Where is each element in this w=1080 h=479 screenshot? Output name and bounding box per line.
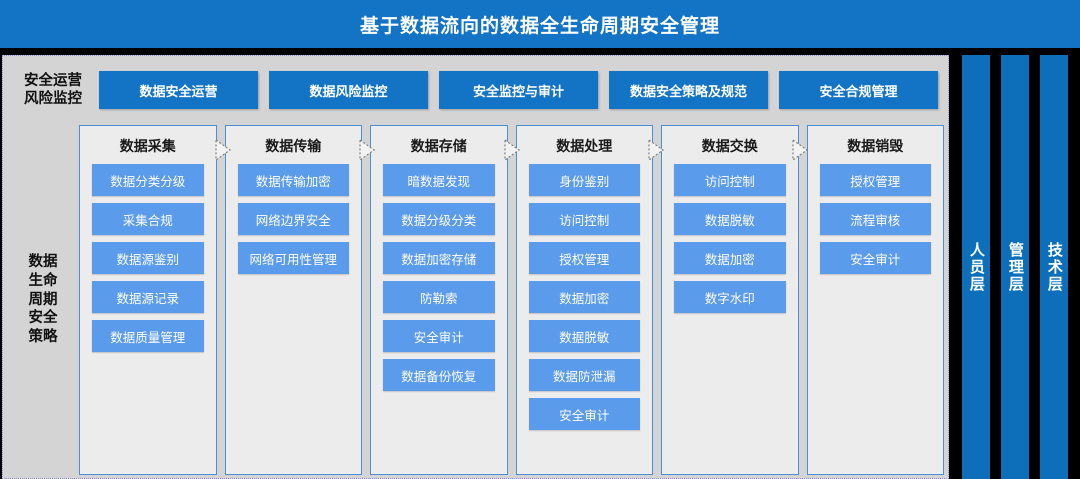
security-ops-button[interactable]: 安全监控与审计: [439, 71, 598, 109]
lifecycle-stage-title: 数据存储: [411, 134, 467, 160]
lifecycle-stage-item[interactable]: 访问控制: [674, 164, 786, 196]
lifecycle-stage-item[interactable]: 数据源记录: [92, 281, 204, 313]
layer-bar-label: 人员层: [968, 242, 984, 293]
security-ops-button[interactable]: 数据安全策略及规范: [609, 71, 768, 109]
layer-bar-personnel[interactable]: 人员层: [962, 55, 990, 479]
lifecycle-stage-item[interactable]: 数据质量管理: [92, 320, 204, 352]
lifecycle-stage-item[interactable]: 数据防泄漏: [529, 359, 641, 391]
main-frame: 安全运营 风险监控 数据安全运营数据风险监控安全监控与审计数据安全策略及规范安全…: [2, 55, 949, 479]
layer-bar-label: 管理层: [1007, 242, 1023, 293]
lifecycle-stage-item[interactable]: 数据分级分类: [383, 203, 495, 235]
lifecycle-stage-title: 数据销毁: [847, 134, 903, 160]
security-ops-button-group: 数据安全运营数据风险监控安全监控与审计数据安全策略及规范安全合规管理: [99, 71, 944, 109]
lifecycle-stage-item[interactable]: 网络可用性管理: [238, 242, 350, 274]
diagram-title-bar: 基于数据流向的数据全生命周期安全管理: [0, 0, 1080, 48]
lifecycle-stage-item-list: 访问控制数据脱敏数据加密数字水印: [662, 160, 798, 313]
diagram-canvas: 基于数据流向的数据全生命周期安全管理 安全运营 风险监控 数据安全运营数据风险监…: [0, 0, 1080, 479]
lifecycle-stage-item-list: 授权管理流程审核安全审计: [808, 160, 944, 274]
lifecycle-stage-item[interactable]: 访问控制: [529, 203, 641, 235]
lifecycle-stage-item[interactable]: 流程审核: [820, 203, 932, 235]
lifecycle-stage-item-list: 暗数据发现数据分级分类数据加密存储防勒索安全审计数据备份恢复: [371, 160, 507, 391]
layer-bar-label: 技术层: [1046, 242, 1062, 293]
lifecycle-stage-item[interactable]: 安全审计: [383, 320, 495, 352]
security-ops-button[interactable]: 安全合规管理: [779, 71, 938, 109]
lifecycle-stage[interactable]: 数据销毁授权管理流程审核安全审计: [807, 125, 945, 475]
lifecycle-stage-title: 数据交换: [702, 134, 758, 160]
security-ops-row: 安全运营 风险监控 数据安全运营数据风险监控安全监控与审计数据安全策略及规范安全…: [7, 60, 944, 120]
lifecycle-stage-item[interactable]: 数据备份恢复: [383, 359, 495, 391]
lifecycle-stage-item[interactable]: 数据脱敏: [529, 320, 641, 352]
lifecycle-stage-title: 数据处理: [556, 134, 612, 160]
lifecycle-stage-item[interactable]: 数据加密存储: [383, 242, 495, 274]
lifecycle-stage-item[interactable]: 暗数据发现: [383, 164, 495, 196]
security-ops-button[interactable]: 数据安全运营: [99, 71, 258, 109]
lifecycle-stage-item[interactable]: 身份鉴别: [529, 164, 641, 196]
lifecycle-stage-item[interactable]: 授权管理: [529, 242, 641, 274]
lifecycle-stage-item[interactable]: 安全审计: [820, 242, 932, 274]
lifecycle-stage-item[interactable]: 数据传输加密: [238, 164, 350, 196]
lifecycle-stage-item[interactable]: 数据脱敏: [674, 203, 786, 235]
lifecycle-stage-item-list: 身份鉴别访问控制授权管理数据加密数据脱敏数据防泄漏安全审计: [517, 160, 653, 430]
lifecycle-stage-item[interactable]: 数据分类分级: [92, 164, 204, 196]
lifecycle-stage[interactable]: 数据交换访问控制数据脱敏数据加密数字水印: [661, 125, 799, 475]
lifecycle-stage-item-list: 数据传输加密网络边界安全网络可用性管理: [226, 160, 362, 274]
lifecycle-stage-item[interactable]: 安全审计: [529, 398, 641, 430]
lifecycle-stage-item[interactable]: 防勒索: [383, 281, 495, 313]
lifecycle-stage-item[interactable]: 数字水印: [674, 281, 786, 313]
lifecycle-stage[interactable]: 数据采集数据分类分级采集合规数据源鉴别数据源记录数据质量管理: [79, 125, 217, 475]
lifecycle-stage[interactable]: 数据传输数据传输加密网络边界安全网络可用性管理: [225, 125, 363, 475]
lifecycle-stage-item[interactable]: 授权管理: [820, 164, 932, 196]
layer-bar-management[interactable]: 管理层: [1001, 55, 1029, 479]
data-lifecycle-region: 数据 生命 周期 安全 策略 数据采集数据分类分级采集合规数据源鉴别数据源记录数…: [7, 125, 944, 475]
lifecycle-stage-item[interactable]: 数据源鉴别: [92, 242, 204, 274]
security-ops-label: 安全运营 风险监控: [7, 72, 99, 108]
lifecycle-stage-list: 数据采集数据分类分级采集合规数据源鉴别数据源记录数据质量管理数据传输数据传输加密…: [79, 125, 944, 475]
lifecycle-stage[interactable]: 数据存储暗数据发现数据分级分类数据加密存储防勒索安全审计数据备份恢复: [370, 125, 508, 475]
lifecycle-stage-item-list: 数据分类分级采集合规数据源鉴别数据源记录数据质量管理: [80, 160, 216, 352]
lifecycle-stage-item[interactable]: 采集合规: [92, 203, 204, 235]
lifecycle-stage-item[interactable]: 数据加密: [529, 281, 641, 313]
security-ops-button[interactable]: 数据风险监控: [269, 71, 428, 109]
lifecycle-policy-label: 数据 生命 周期 安全 策略: [7, 125, 79, 475]
layer-bar-technology[interactable]: 技术层: [1040, 55, 1068, 479]
lifecycle-stage[interactable]: 数据处理身份鉴别访问控制授权管理数据加密数据脱敏数据防泄漏安全审计: [516, 125, 654, 475]
page-title: 基于数据流向的数据全生命周期安全管理: [360, 11, 720, 38]
lifecycle-stage-title: 数据采集: [120, 134, 176, 160]
lifecycle-stage-item[interactable]: 数据加密: [674, 242, 786, 274]
lifecycle-stage-item[interactable]: 网络边界安全: [238, 203, 350, 235]
lifecycle-stage-title: 数据传输: [265, 134, 321, 160]
